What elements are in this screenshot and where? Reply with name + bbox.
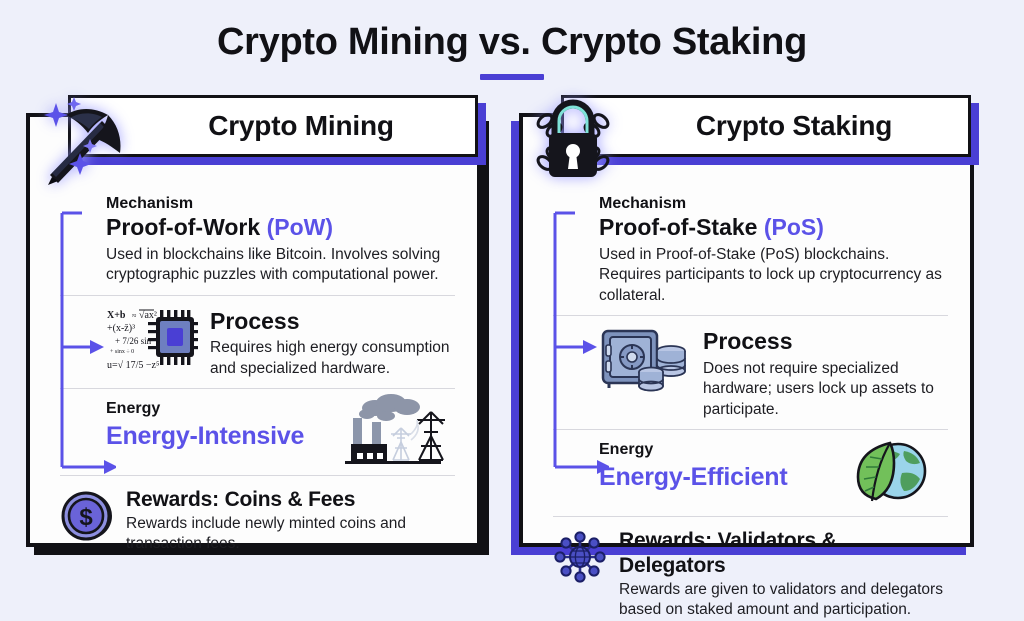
staking-connector-rail [553, 195, 609, 477]
staking-process-section: Process Does not require specialized har… [599, 325, 948, 420]
mining-process-heading: Process [210, 308, 455, 336]
staking-energy-section: Energy Energy-Efficient [599, 439, 948, 507]
cpu-chip-icon: X+b ≈ √ax² +(x-z̄)³ + 7/26 sin + sinx ÷ … [106, 305, 198, 375]
mining-mechanism-heading: Proof-of-Work (PoW) [106, 214, 455, 242]
svg-text:≈: ≈ [132, 311, 137, 320]
staking-process-heading: Process [703, 328, 948, 356]
mining-divider-1 [60, 295, 455, 296]
mining-mechanism-heading-text: Proof-of-Work [106, 214, 260, 240]
staking-card-header: Crypto Staking [539, 117, 954, 191]
page-title: Crypto Mining vs. Crypto Staking [0, 22, 1024, 64]
staking-rewards-body: Rewards are given to validators and dele… [619, 580, 948, 621]
mining-card-header: Crypto Mining [46, 117, 461, 191]
staking-rewards-section: Rewards: Validators & Delegators Rewards… [553, 526, 948, 620]
mining-energy-section: Energy Energy-Intensive [106, 398, 455, 466]
staking-mechanism-heading: Proof-of-Stake (PoS) [599, 214, 948, 242]
leaf-globe-icon [846, 433, 932, 507]
crypto-staking-card[interactable]: Crypto Staking [519, 113, 974, 547]
staking-rewards-heading: Rewards: Validators & Delegators [619, 528, 948, 578]
mining-rewards-section: $ Rewards: Coins & Fees Rewards include … [60, 485, 455, 554]
crypto-mining-card[interactable]: Crypto Mining [26, 113, 481, 547]
mining-mechanism-kicker: Mechanism [106, 195, 455, 213]
staking-energy-value: Energy-Efficient [599, 462, 788, 492]
svg-text:+ 7/26 sin: + 7/26 sin [115, 336, 152, 346]
staking-energy-kicker: Energy [599, 441, 788, 459]
mining-connector-rail [60, 195, 116, 477]
cards-container: Crypto Mining [0, 113, 1024, 561]
staking-badge-title: Crypto Staking [640, 110, 892, 142]
staking-process-body: Does not require specialized hardware; u… [703, 359, 948, 420]
mining-process-body: Requires high energy consumption and spe… [210, 338, 455, 379]
staking-divider-1 [553, 315, 948, 316]
network-nodes-icon [553, 530, 607, 584]
mining-energy-kicker: Energy [106, 400, 304, 418]
mining-badge-title: Crypto Mining [152, 110, 394, 142]
title-underline-accent [480, 74, 544, 80]
pickaxe-icon [28, 91, 132, 195]
staking-divider-2 [553, 429, 948, 430]
staking-mechanism-body: Used in Proof-of-Stake (PoS) blockchains… [599, 245, 948, 306]
staking-divider-3 [553, 516, 948, 517]
dollar-coin-icon: $ [60, 489, 114, 543]
staking-mechanism-heading-text: Proof-of-Stake [599, 214, 757, 240]
safe-coins-icon [599, 325, 691, 395]
staking-mechanism-section: Mechanism Proof-of-Stake (PoS) Used in P… [599, 195, 948, 306]
mining-mechanism-abbreviation: (PoW) [267, 214, 333, 240]
mining-mechanism-section: Mechanism Proof-of-Work (PoW) Used in bl… [106, 195, 455, 286]
padlock-chains-icon [521, 91, 625, 195]
mining-rewards-body: Rewards include newly minted coins and t… [126, 514, 455, 555]
mining-divider-2 [60, 388, 455, 389]
mining-mechanism-body: Used in blockchains like Bitcoin. Involv… [106, 245, 455, 286]
factory-powerlines-icon [331, 392, 455, 466]
page-title-block: Crypto Mining vs. Crypto Staking [0, 22, 1024, 64]
staking-mechanism-kicker: Mechanism [599, 195, 948, 213]
infographic-page: Crypto Mining vs. Crypto Staking Crypto … [0, 0, 1024, 572]
mining-energy-value: Energy-Intensive [106, 421, 304, 451]
staking-mechanism-abbreviation: (PoS) [764, 214, 824, 240]
mining-rewards-heading: Rewards: Coins & Fees [126, 487, 455, 512]
mining-process-section: X+b ≈ √ax² +(x-z̄)³ + 7/26 sin + sinx ÷ … [106, 305, 455, 380]
svg-text:√ax²: √ax² [139, 310, 157, 321]
svg-text:$: $ [79, 504, 93, 531]
mining-divider-3 [60, 475, 455, 476]
